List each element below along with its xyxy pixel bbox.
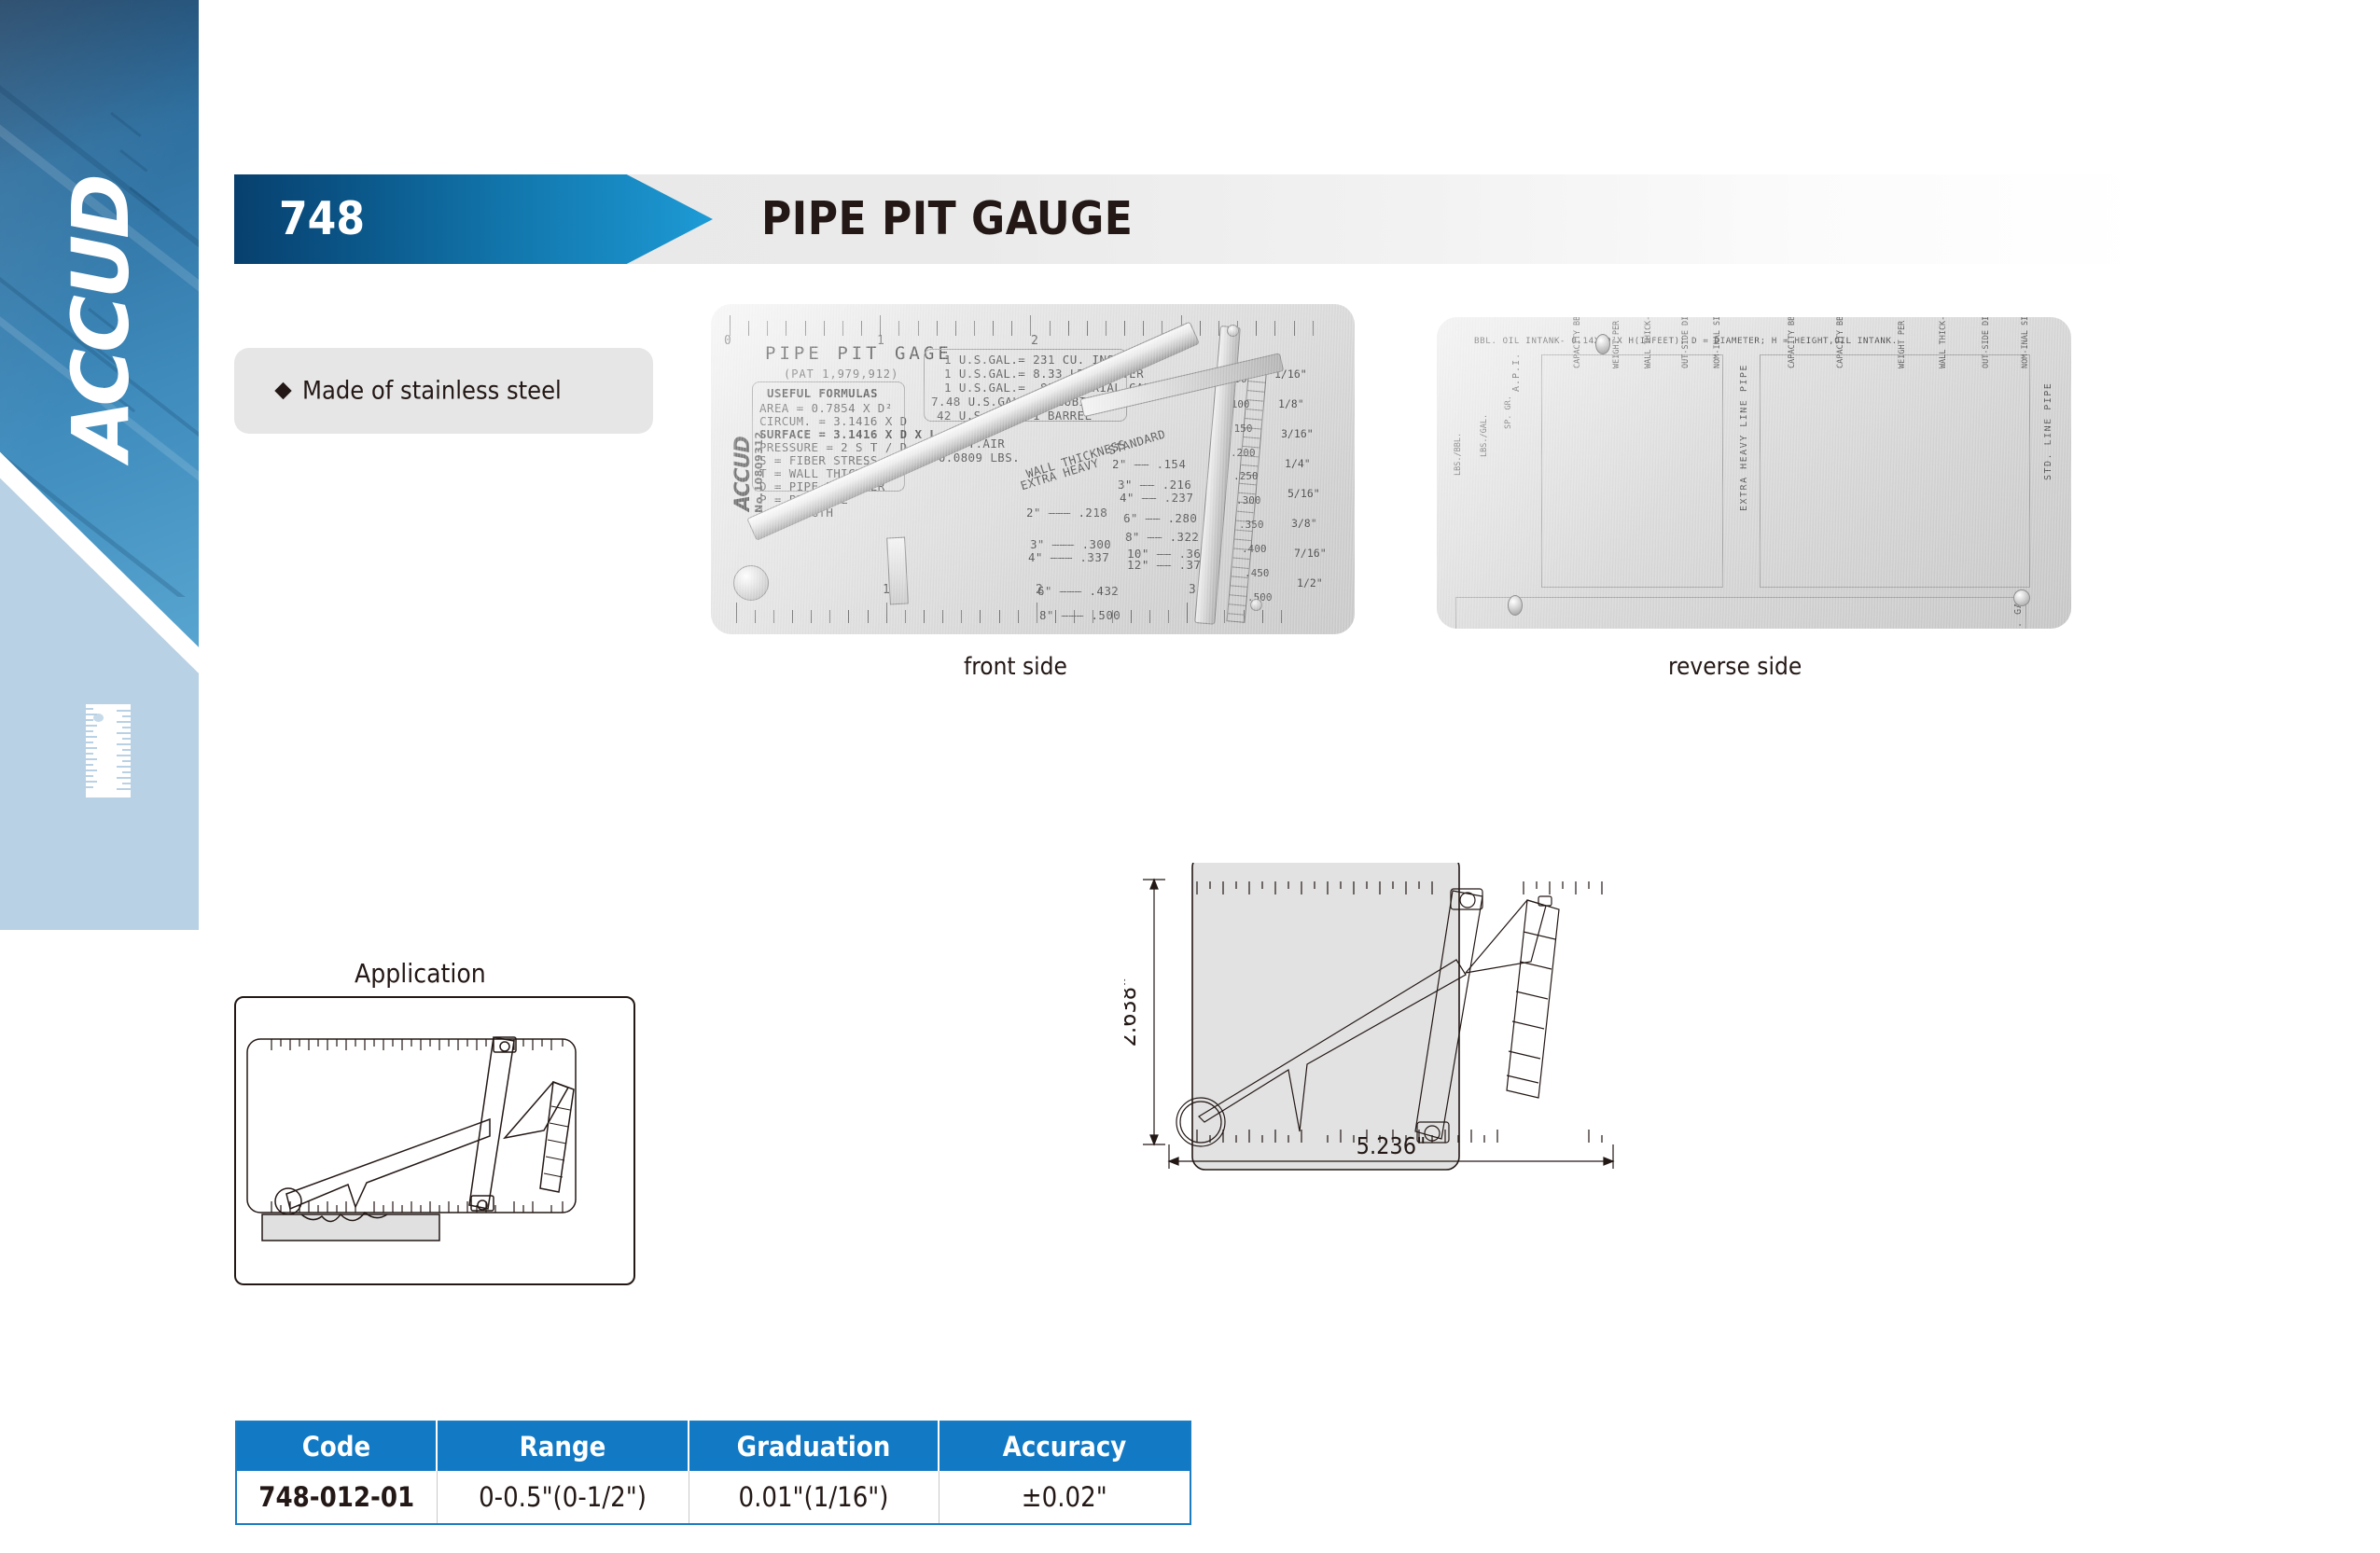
- standard-row: 3" —— .216: [1118, 478, 1191, 492]
- api-col-header: LBS./BBL.: [1454, 433, 1463, 476]
- column-header-code: Code: [236, 1421, 437, 1471]
- column-header-accuracy: Accuracy: [939, 1421, 1190, 1471]
- std-col-header: NOM-INAL SIZE: [2021, 317, 2030, 368]
- standard-row: 8" —— .322: [1125, 530, 1199, 544]
- std-col-header: CAPACITY BBLS./100 FT.: [1836, 317, 1845, 368]
- depth-fraction-tick: 5/16": [1287, 487, 1320, 500]
- product-header-banner: 748 PIPE PIT GAUGE: [234, 174, 2147, 264]
- dimension-width-label: 5.236": [1357, 1132, 1427, 1159]
- standard-row: 12" —— .375: [1127, 558, 1208, 572]
- application-illustration-box: [234, 996, 635, 1285]
- depth-decimal-tick: .450: [1245, 567, 1270, 579]
- eh-col-header: WEIGHT PER FOOT: [1612, 317, 1621, 368]
- gauge-pivot-knob: [733, 565, 769, 601]
- brand-sidebar: ACCUD: [0, 0, 199, 930]
- section-title-std-line-pipe: STD. LINE PIPE: [2043, 382, 2053, 480]
- cell-range: 0-0.5"(0-1/2"): [437, 1471, 689, 1524]
- extra-heavy-row: 2" ——— .218: [1026, 506, 1107, 520]
- depth-decimal-tick: .300: [1236, 494, 1261, 506]
- formula-line: CIRCUM. = 3.1416 X D: [759, 414, 908, 428]
- std-col-header: CAPACITY BBLS./MILE: [1788, 317, 1797, 368]
- depth-fraction-tick: 3/16": [1281, 427, 1314, 440]
- bwg-table: [1455, 597, 2026, 629]
- formula-line: SURFACE = 3.1416 X D X L: [759, 427, 937, 441]
- diamond-bullet-icon: [274, 382, 291, 399]
- formulas-heading: USEFUL FORMULAS: [767, 386, 878, 400]
- depth-decimal-tick: .400: [1242, 543, 1267, 555]
- column-header-range: Range: [437, 1421, 689, 1471]
- formula-line: PRESSURE = 2 S T / D: [759, 440, 908, 454]
- eh-col-header: NOM-INAL SIZE: [1713, 317, 1722, 368]
- depth-decimal-tick: .200: [1231, 447, 1256, 459]
- extra-heavy-row: 3" ——— .300: [1030, 537, 1111, 551]
- cell-accuracy: ±0.02": [939, 1471, 1190, 1524]
- dimension-height-label: 2.638": [1124, 978, 1141, 1047]
- ruler-number: 3: [1189, 583, 1196, 597]
- table-row: 748-012-01 0-0.5"(0-1/2") 0.01"(1/16") ±…: [236, 1471, 1190, 1524]
- formula-line: AREA = 0.7854 X D²: [759, 401, 893, 415]
- product-code: 748: [279, 174, 365, 264]
- extra-heavy-line-pipe-table: [1541, 354, 1723, 588]
- column-header-graduation: Graduation: [689, 1421, 939, 1471]
- specification-table: Code Range Graduation Accuracy 748-012-0…: [235, 1421, 1191, 1525]
- application-drawing: [236, 998, 633, 1283]
- api-col-header: SP. GR.: [1504, 395, 1513, 429]
- std-col-header: WALL THICK-NESS: [1939, 317, 1948, 368]
- api-col-header: LBS./GAL.: [1480, 414, 1489, 457]
- extra-heavy-row: 6" ——— .432: [1037, 584, 1119, 598]
- reverse-screw-bottom-right: [2013, 589, 2030, 606]
- section-title-api: A.P.I.: [1511, 353, 1522, 392]
- ruler-icon: [86, 704, 131, 797]
- dimension-drawing: 2.638" 5.236": [1124, 863, 1665, 1171]
- page-title: PIPE PIT GAUGE: [761, 174, 1133, 264]
- front-top-ruler-scale: [730, 312, 1336, 336]
- section-title-extra-heavy: EXTRA HEAVY LINE PIPE: [1739, 364, 1749, 511]
- eh-col-header: CAPACITY BBLS./100 FT.: [1573, 317, 1582, 368]
- front-side-gauge-photo: 0 1 2 3 1 2 3 PIPE PIT: [711, 304, 1355, 634]
- depth-fraction-tick: 1/4": [1285, 457, 1311, 470]
- ruler-number: 2: [1031, 334, 1038, 348]
- reverse-screw-top: [1595, 334, 1610, 354]
- formula-line: S = FIBER STRESS: [759, 453, 878, 467]
- cell-graduation: 0.01"(1/16"): [689, 1471, 939, 1524]
- std-line-pipe-table: [1760, 354, 2030, 588]
- extra-heavy-row: 4" ——— .337: [1028, 550, 1109, 564]
- depth-decimal-tick: .350: [1239, 519, 1264, 531]
- reverse-side-caption: reverse side: [1668, 653, 1802, 681]
- conversion-line: 1 U.S.GAL.= 231 CU. INS: [944, 353, 1114, 367]
- blade-bottom-rivet: [1250, 599, 1262, 611]
- standard-label: STANDARD: [1106, 426, 1167, 457]
- accud-logo: ACCUD: [62, 170, 140, 468]
- depth-decimal-tick: .250: [1233, 470, 1259, 482]
- blade-top-rivet: [1227, 325, 1239, 337]
- feature-list-item: Made of stainless steel: [234, 377, 653, 406]
- application-title: Application: [355, 958, 486, 989]
- gauge-arm-foot: [886, 537, 909, 605]
- eh-col-header: WALL THICK-NESS: [1644, 317, 1653, 368]
- front-side-caption: front side: [964, 653, 1067, 681]
- depth-fraction-tick: 1/8": [1278, 397, 1304, 410]
- ruler-number: 0: [724, 334, 731, 348]
- depth-fraction-tick: 1/2": [1297, 576, 1323, 589]
- depth-fraction-tick: 3/8": [1291, 517, 1317, 530]
- table-header-row: Code Range Graduation Accuracy: [236, 1421, 1190, 1471]
- feature-text: Made of stainless steel: [302, 377, 562, 406]
- standard-row: 4" —— .237: [1120, 491, 1193, 505]
- std-col-header: OUT-SIDE DIAM.: [1982, 317, 1991, 368]
- reverse-side-gauge-photo: BBL. OIL INTANK- 0.14X D²X H(INFEET); D …: [1437, 317, 2071, 629]
- eh-col-header: OUT-SIDE DIAM.: [1681, 317, 1691, 368]
- features-panel: Made of stainless steel: [234, 348, 653, 434]
- gauge-patent-engraving: (PAT 1,979,912): [784, 367, 898, 381]
- std-col-header: WEIGHT PER FOOT: [1898, 317, 1907, 368]
- depth-fraction-tick: 7/16": [1294, 547, 1327, 560]
- reverse-screw-bottom-left: [1508, 595, 1523, 616]
- standard-row: 2" —— .154: [1112, 457, 1186, 471]
- extra-heavy-row: 8" ——— .500: [1039, 608, 1120, 622]
- standard-row: 6" —— .280: [1123, 511, 1197, 525]
- cell-code: 748-012-01: [236, 1471, 437, 1524]
